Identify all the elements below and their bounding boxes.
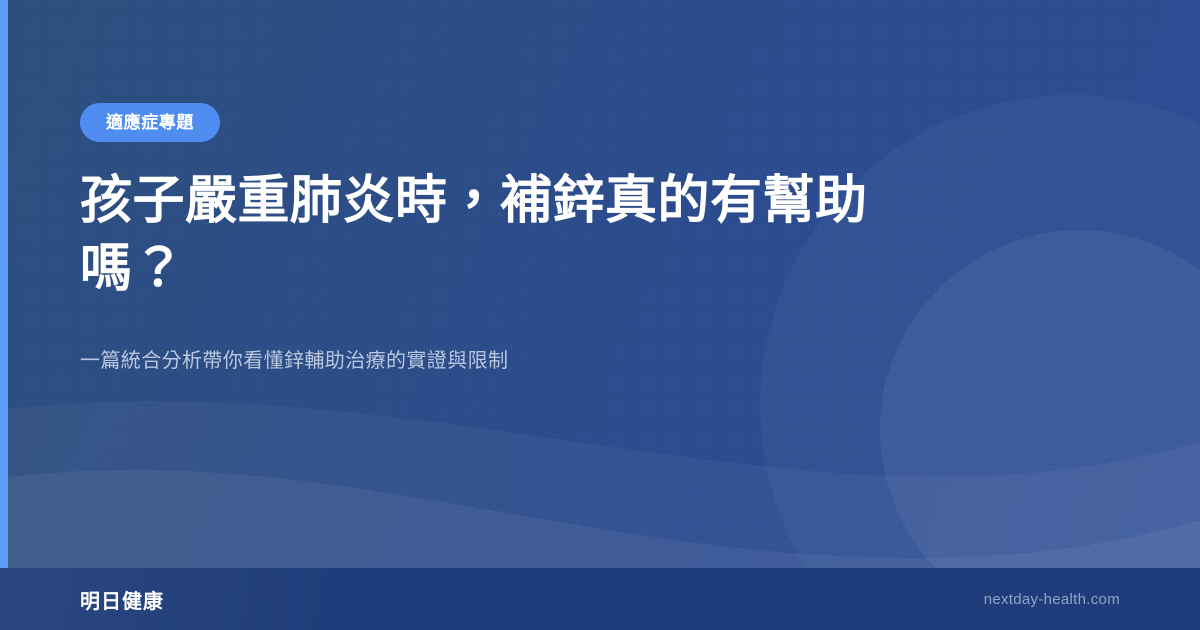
brand-name: 明日健康 [80, 585, 164, 614]
social-share-card: 適應症專題 孩子嚴重肺炎時，補鋅真的有幫助嗎？ 一篇統合分析帶你看懂鋅輔助治療的… [0, 0, 1200, 630]
left-accent-bar [0, 0, 8, 630]
site-domain: nextday-health.com [984, 591, 1120, 608]
footer-sheen [0, 568, 330, 630]
card-footer: 明日健康 nextday-health.com [0, 568, 1200, 630]
card-content: 適應症專題 孩子嚴重肺炎時，補鋅真的有幫助嗎？ 一篇統合分析帶你看懂鋅輔助治療的… [80, 0, 940, 568]
page-subtitle: 一篇統合分析帶你看懂鋅輔助治療的實證與限制 [80, 345, 940, 377]
category-badge: 適應症專題 [80, 103, 220, 142]
page-title: 孩子嚴重肺炎時，補鋅真的有幫助嗎？ [80, 168, 910, 303]
